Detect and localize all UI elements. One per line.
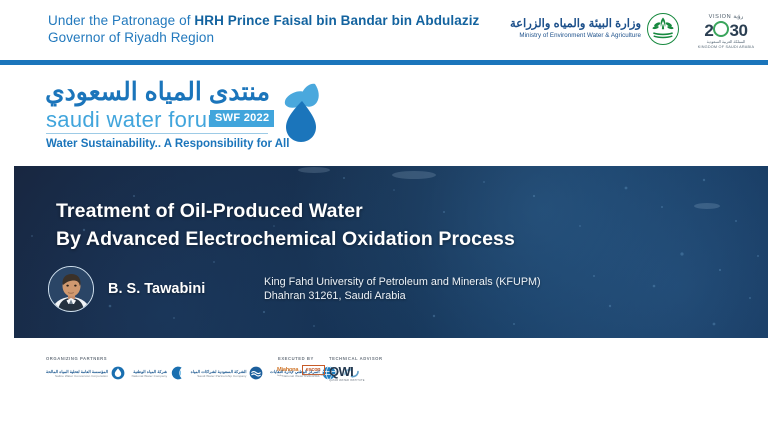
patronage-prefix: Under the Patronage of xyxy=(48,13,194,28)
presentation-title-slide: Under the Patronage of HRH Prince Faisal… xyxy=(0,0,768,429)
qwi-sub: QATAR WATER INSTITUTE xyxy=(329,379,365,383)
swcc-logo-icon xyxy=(111,366,125,380)
ministry-wordmark: وزارة البيئة والمياه والزراعة Ministry o… xyxy=(510,18,641,40)
author-name: B. S. Tawabini xyxy=(108,281,205,297)
nwc-logo-icon xyxy=(170,366,184,380)
patronage-title-line: Governor of Riyadh Region xyxy=(48,29,479,46)
partner-name-english: Saline Water Conversion Corporation xyxy=(46,374,108,378)
miahona-sub: مياهنا xyxy=(277,374,298,377)
vision-2030-logo: VISION رؤية 230 المملكة العربية السعودية… xyxy=(697,14,755,50)
vision-label: VISION رؤية xyxy=(697,14,755,21)
partner-name-english: Saudi Water Partnership Company xyxy=(191,374,247,378)
vision-ring-icon xyxy=(713,21,729,37)
ministry-name-arabic: وزارة البيئة والمياه والزراعة xyxy=(510,18,641,31)
ministry-logo: وزارة البيئة والمياه والزراعة Ministry o… xyxy=(510,13,679,45)
partner-logo-swpc: الشركة السعودية لشراكات المياه Saudi Wat… xyxy=(191,366,263,380)
vision-label-en: VISION xyxy=(709,14,732,20)
vision-number-left: 2 xyxy=(704,21,713,40)
title-line-2: By Advanced Electrochemical Oxidation Pr… xyxy=(56,228,515,250)
miahona-name: Miahona xyxy=(277,367,298,374)
affiliation-line-1: King Fahd University of Petroleum and Mi… xyxy=(264,276,541,288)
palm-and-swords-emblem-icon xyxy=(647,13,679,45)
partner-logo-nwc: شركة المياه الوطنية National Water Compa… xyxy=(132,366,184,380)
label-technical-advisor: TECHNICAL ADVISOR xyxy=(329,356,383,361)
label-executed-by: EXECUTED BY xyxy=(278,356,314,361)
forum-logo-band: منتدى المياه السعودي saudi water forum S… xyxy=(0,65,768,166)
affiliation-line-2: Dhahran 31261, Saudi Arabia xyxy=(264,290,406,302)
author-portrait-avatar xyxy=(48,266,94,312)
author-affiliation: King Fahd University of Petroleum and Mi… xyxy=(264,276,541,303)
partner-name-arabic: الشركة السعودية لشراكات المياه xyxy=(191,369,247,374)
logo-underline-rule xyxy=(46,133,268,134)
patronage-header: Under the Patronage of HRH Prince Faisal… xyxy=(0,0,768,60)
partner-name-english: National Water Company xyxy=(132,374,168,378)
partner-wordmark: الشركة السعودية لشراكات المياه Saudi Wat… xyxy=(191,369,247,378)
forum-tagline: Water Sustainability.. A Responsibility … xyxy=(46,136,289,152)
vision-sub-english: KINGDOM OF SAUDI ARABIA xyxy=(697,45,755,50)
escon-name: escon xyxy=(302,365,325,375)
forum-name-arabic: منتدى المياه السعودي xyxy=(46,78,270,106)
partner-logo-swcc: المؤسسة العامة لتحلية المياه المالحة Sal… xyxy=(46,366,125,380)
partner-wordmark: شركة المياه الوطنية National Water Compa… xyxy=(132,369,168,378)
escon-logo-icon: escon ESCON CONSULTING xyxy=(302,365,325,378)
author-block: B. S. Tawabini xyxy=(48,266,205,312)
water-droplet-icon xyxy=(274,75,338,153)
partner-name-arabic: المؤسسة العامة لتحلية المياه المالحة xyxy=(46,369,108,374)
patronage-royal-name: HRH Prince Faisal bin Bandar bin Abdulaz… xyxy=(194,13,479,28)
saudi-water-forum-logo: منتدى المياه السعودي saudi water forum S… xyxy=(46,78,336,156)
patronage-statement: Under the Patronage of HRH Prince Faisal… xyxy=(48,12,479,46)
qwi-logo-icon: QWI QATAR WATER INSTITUTE xyxy=(329,365,365,383)
vision-number: 230 xyxy=(697,21,755,40)
partner-name-arabic: شركة المياه الوطنية xyxy=(132,369,168,374)
swpc-logo-icon xyxy=(249,366,263,380)
miahona-logo-icon: Miahona مياهنا xyxy=(277,367,298,377)
qwi-name: QWI xyxy=(329,365,365,379)
escon-sub: ESCON CONSULTING xyxy=(302,375,325,378)
forum-name-english: saudi water forum xyxy=(46,107,226,132)
presentation-title: Treatment of Oil-Produced Water By Advan… xyxy=(56,197,515,253)
title-hero-banner: Treatment of Oil-Produced Water By Advan… xyxy=(14,166,768,338)
ministry-name-english: Ministry of Environment Water & Agricult… xyxy=(510,31,641,40)
partners-strip: ORGANIZING PARTNERS EXECUTED BY TECHNICA… xyxy=(46,356,386,396)
title-line-1: Treatment of Oil-Produced Water xyxy=(56,200,363,222)
partner-wordmark: المؤسسة العامة لتحلية المياه المالحة Sal… xyxy=(46,369,108,378)
vision-label-ar: رؤية xyxy=(733,14,743,20)
label-organizing-partners: ORGANIZING PARTNERS xyxy=(46,356,107,361)
swf-year-badge: SWF 2022 xyxy=(210,110,274,127)
vision-number-right: 30 xyxy=(729,21,747,40)
slide-footer: ORGANIZING PARTNERS EXECUTED BY TECHNICA… xyxy=(0,338,768,429)
executed-by-logos: Miahona مياهنا escon ESCON CONSULTING xyxy=(277,365,325,378)
